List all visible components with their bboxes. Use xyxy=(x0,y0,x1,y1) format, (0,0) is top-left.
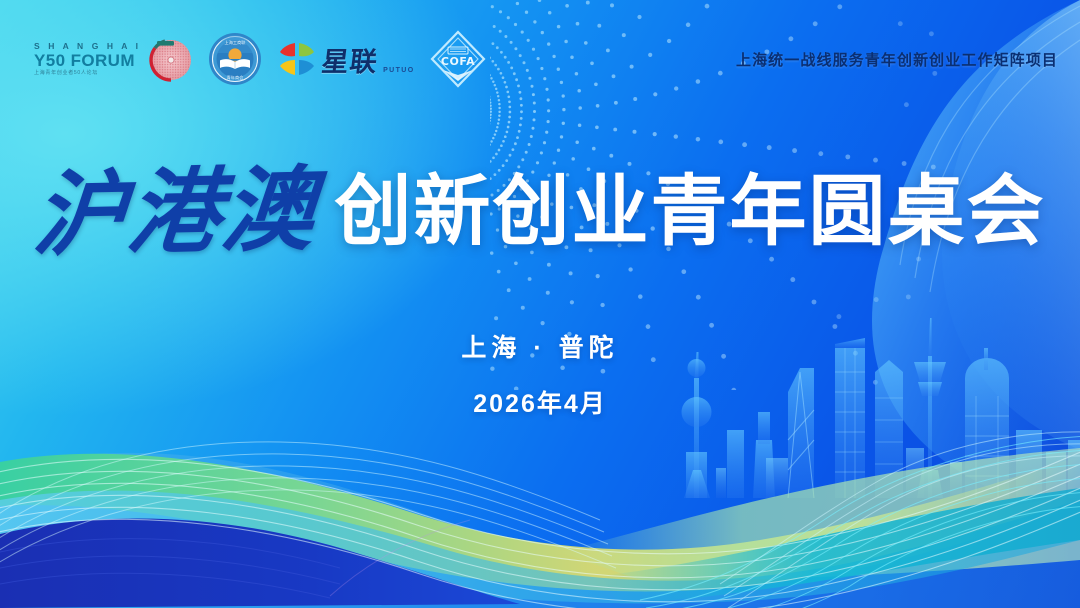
event-location: 上海 · 普陀 xyxy=(0,328,1080,364)
circular-emblem-logo: 上海工商联 青年商会 xyxy=(207,31,263,87)
xinglian-text: 星联 xyxy=(320,40,381,79)
page-title: 创新创业青年圆桌会 xyxy=(335,174,1046,251)
shanghai-y50-forum-logo: S H A N G H A I Y50 FORUM 上海青年创业者50人论坛 xyxy=(34,32,193,86)
svg-text:青年商会: 青年商会 xyxy=(227,74,245,81)
svg-text:上海工商联: 上海工商联 xyxy=(225,39,247,46)
putuo-text: PUTUO xyxy=(383,67,415,74)
subtitle-block: 上海 · 普陀 2026年4月 xyxy=(0,328,1080,420)
title-brush-calligraphy: 沪港澳 xyxy=(30,163,320,261)
cofa-diamond-logo: COFA xyxy=(429,29,487,89)
poster-canvas: S H A N G H A I Y50 FORUM 上海青年创业者50人论坛 xyxy=(0,0,1080,608)
event-date: 2026年4月 xyxy=(0,384,1080,420)
header-tagline: 上海统一战线服务青年创新创业工作矩阵项目 xyxy=(736,49,1058,70)
cofa-label: COFA xyxy=(441,55,475,68)
y50-line3: 上海青年创业者50人论坛 xyxy=(34,71,141,76)
y50-line2: Y50 FORUM xyxy=(34,52,141,69)
poster-header: S H A N G H A I Y50 FORUM 上海青年创业者50人论坛 xyxy=(0,0,1080,118)
four-color-pinwheel-mark xyxy=(277,39,317,79)
sun-book-circle-emblem: 上海工商联 青年商会 xyxy=(207,31,263,87)
fan-circle-mark xyxy=(143,32,193,86)
diamond-outline-mark: COFA xyxy=(429,29,487,89)
logo-row: S H A N G H A I Y50 FORUM 上海青年创业者50人论坛 xyxy=(34,29,487,89)
xinglian-putuo-logo: 星联 PUTUO xyxy=(277,39,415,79)
title-block: 沪港澳 创新创业青年圆桌会 xyxy=(0,166,1080,258)
y50-line1: S H A N G H A I xyxy=(34,42,141,51)
